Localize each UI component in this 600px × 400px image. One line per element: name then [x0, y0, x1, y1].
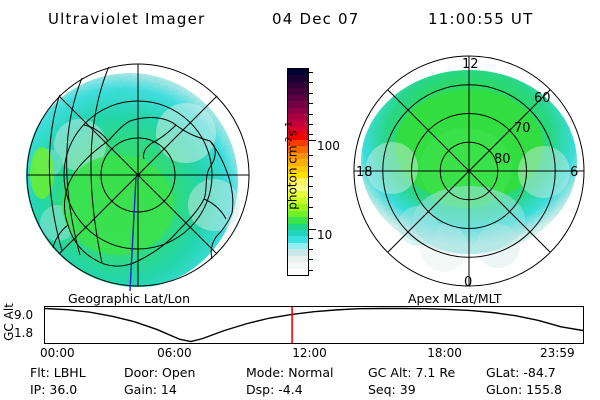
colorbar-unit-mid: s [286, 130, 300, 136]
apex-polar-plot[interactable]: 12 6 0 18 60 70 80 [348, 50, 590, 292]
geographic-polar-plot[interactable] [18, 55, 258, 295]
status-flt: Flt: LBHL [30, 365, 86, 380]
colorbar-tick [309, 238, 313, 239]
status-seq: Seq: 39 [368, 382, 416, 397]
colorbar-tick [309, 229, 316, 230]
colorbar-tick [309, 218, 313, 219]
strip-xtick: 23:59 [540, 346, 575, 360]
page-title: Ultraviolet Imager [48, 10, 205, 28]
status-ip: IP: 36.0 [30, 382, 77, 397]
colorbar-tick [309, 82, 313, 83]
mlt-label-12: 12 [462, 57, 479, 72]
apex-plot-title: Apex MLat/MLT [408, 291, 502, 306]
strip-ytick-bottom: 1.8 [14, 326, 33, 340]
mlat-label-70: 70 [514, 121, 531, 136]
colorbar-tick [309, 140, 316, 141]
colorbar-tick [309, 155, 313, 156]
status-gcalt: GC Alt: 7.1 Re [368, 365, 455, 380]
strip-xtick: 18:00 [427, 346, 462, 360]
colorbar-tick [309, 259, 313, 260]
colorbar-unit-main: photon cm [286, 145, 300, 209]
colorbar-tick [309, 270, 313, 271]
mlat-label-80: 80 [494, 152, 511, 167]
status-gain: Gain: 14 [124, 382, 177, 397]
colorbar-tick [309, 249, 313, 250]
colorbar-step [288, 269, 308, 275]
mlt-label-6: 6 [570, 165, 578, 180]
colorbar[interactable]: 100 10 photon cm-2s-1 [268, 60, 348, 295]
strip-xtick: 06:00 [157, 346, 192, 360]
status-mode: Mode: Normal [246, 365, 333, 380]
colorbar-axis-label: photon cm-2s-1 [285, 96, 300, 236]
colorbar-unit-exp1: -2 [285, 136, 295, 145]
colorbar-tick [309, 72, 313, 73]
mlt-label-0: 0 [464, 275, 472, 290]
observation-date: 04 Dec 07 [272, 10, 360, 28]
colorbar-tick [309, 207, 313, 208]
strip-xtick: 12:00 [292, 346, 327, 360]
colorbar-label-10: 10 [317, 229, 332, 241]
geographic-plot-title: Geographic Lat/Lon [68, 291, 190, 306]
altitude-trace [45, 309, 583, 342]
colorbar-tick [309, 186, 313, 187]
colorbar-tick [309, 103, 313, 104]
orbit-altitude-strip-chart[interactable] [44, 306, 584, 344]
status-door: Door: Open [124, 365, 195, 380]
observation-time: 11:00:55 UT [428, 10, 533, 28]
colorbar-tick [309, 166, 313, 167]
colorbar-unit-exp2: -1 [285, 121, 295, 130]
colorbar-tick [309, 114, 313, 115]
mlat-label-60: 60 [534, 91, 551, 106]
status-glon: GLon: 155.8 [486, 382, 562, 397]
header-bar: Ultraviolet Imager 04 Dec 07 11:00:55 UT [0, 6, 600, 32]
mlt-label-18: 18 [356, 165, 373, 180]
colorbar-label-100: 100 [317, 140, 340, 152]
colorbar-tick [309, 134, 313, 135]
colorbar-tick [309, 124, 313, 125]
colorbar-tick [309, 93, 313, 94]
strip-xtick: 00:00 [40, 346, 75, 360]
status-dsp: Dsp: -4.4 [246, 382, 303, 397]
colorbar-tick [309, 176, 313, 177]
colorbar-tick [309, 197, 313, 198]
status-bar: Flt: LBHL Door: Open Mode: Normal GC Alt… [0, 365, 600, 399]
strip-ytick-top: 9.0 [14, 308, 33, 322]
status-glat: GLat: -84.7 [486, 365, 556, 380]
colorbar-ticks [309, 68, 316, 276]
